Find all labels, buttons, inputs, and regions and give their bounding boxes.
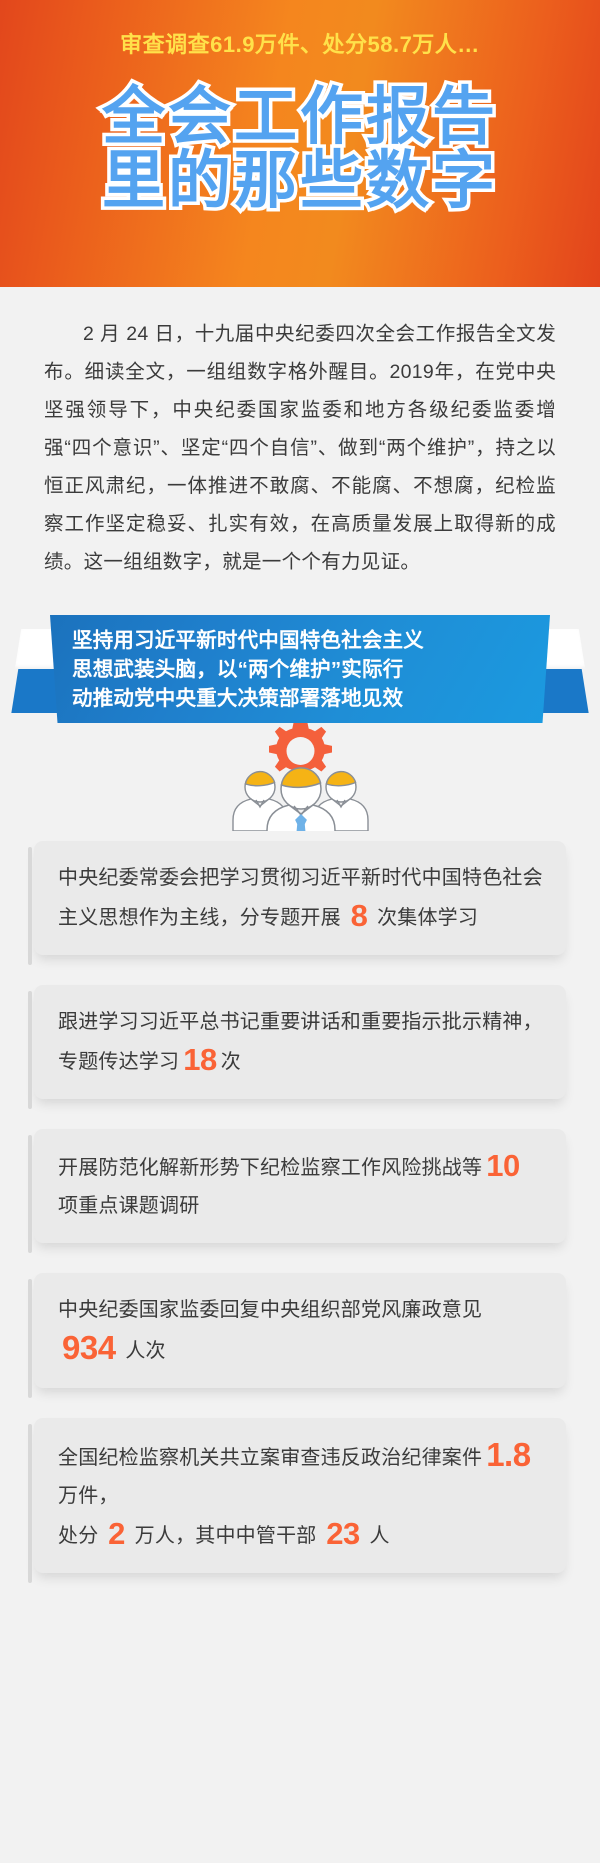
banner-line-3: 动推动党中央重大决策部署落地见效	[72, 684, 532, 713]
banner-line-1: 坚持用习近平新时代中国特色社会主义	[72, 626, 532, 655]
page-title-line-1: 全会工作报告	[0, 85, 600, 149]
stat-card[interactable]: 开展防范化解新形势下纪检监察工作风险挑战等10 项重点课题调研	[34, 1129, 566, 1243]
stat-text-run: 开展防范化解新形势下纪检监察工作风险挑战等	[58, 1157, 482, 1179]
stat-number: 10	[482, 1148, 523, 1183]
stat-text-run: 次	[221, 1051, 241, 1073]
stat-text-run: 处分	[58, 1525, 104, 1547]
stat-card[interactable]: 中央纪委常委会把学习贯彻习近平新时代中国特色社会主义思想作为主线，分专题开展 8…	[34, 841, 566, 955]
stat-text-run: 跟进学习习近平总书记重要讲话和重要指示批示精神，专题传达学习	[58, 1011, 543, 1073]
person-center-icon	[267, 768, 335, 831]
page-title-line-2: 里的那些数字	[0, 149, 600, 213]
intro-section: 2 月 24 日，十九届中央纪委四次全会工作报告全文发布。细读全文，一组组数字格…	[0, 287, 600, 581]
stat-card-text: 中央纪委国家监委回复中央组织部党风廉政意见 934 人次	[58, 1291, 544, 1370]
stat-number: 18	[179, 1042, 220, 1077]
gear-over-people-icon	[193, 713, 408, 831]
stat-text-run: 中央纪委国家监委回复中央组织部党风廉政意见	[58, 1299, 482, 1321]
stat-card[interactable]: 全国纪检监察机关共立案审查违反政治纪律案件1.8 万件，处分 2 万人，其中中管…	[34, 1418, 566, 1573]
stat-text-run: 人次	[120, 1340, 166, 1362]
stat-number: 2	[104, 1516, 129, 1551]
stat-card-text: 中央纪委常委会把学习贯彻习近平新时代中国特色社会主义思想作为主线，分专题开展 8…	[58, 859, 544, 937]
stat-card-text: 全国纪检监察机关共立案审查违反政治纪律案件1.8 万件，处分 2 万人，其中中管…	[58, 1436, 544, 1555]
intro-paragraph: 2 月 24 日，十九届中央纪委四次全会工作报告全文发布。细读全文，一组组数字格…	[44, 315, 556, 581]
stat-card[interactable]: 中央纪委国家监委回复中央组织部党风廉政意见 934 人次	[34, 1273, 566, 1388]
stat-card-text: 开展防范化解新形势下纪检监察工作风险挑战等10 项重点课题调研	[58, 1147, 544, 1225]
stat-text-run: 万件，	[58, 1485, 119, 1507]
page-title: 全会工作报告 里的那些数字	[0, 85, 600, 214]
stat-number: 1.8	[482, 1436, 534, 1473]
stat-card[interactable]: 跟进学习习近平总书记重要讲话和重要指示批示精神，专题传达学习18次	[34, 985, 566, 1099]
stats-card-list: 中央纪委常委会把学习贯彻习近平新时代中国特色社会主义思想作为主线，分专题开展 8…	[0, 833, 600, 1643]
section-banner: 坚持用习近平新时代中国特色社会主义 思想武装头脑，以“两个维护”实际行 动推动党…	[50, 615, 550, 723]
header-subtitle: 审查调查61.9万件、处分58.7万人…	[0, 27, 600, 59]
stat-number: 934	[58, 1329, 120, 1366]
stat-number: 8	[347, 898, 372, 933]
stat-card-text: 跟进学习习近平总书记重要讲话和重要指示批示精神，专题传达学习18次	[58, 1003, 544, 1081]
stat-text-run: 项重点课题调研	[58, 1195, 199, 1217]
banner-line-2: 思想武装头脑，以“两个维护”实际行	[72, 655, 532, 684]
illustration-area	[0, 713, 600, 833]
stat-text-run: 万人，其中中管干部	[129, 1525, 322, 1547]
stat-number: 23	[322, 1516, 363, 1551]
stat-text-run: 全国纪检监察机关共立案审查违反政治纪律案件	[58, 1447, 482, 1469]
stat-text-run: 次集体学习	[371, 907, 478, 929]
stat-text-run: 人	[364, 1525, 390, 1547]
header-banner: 审查调查61.9万件、处分58.7万人… 全会工作报告 里的那些数字	[0, 0, 600, 287]
section-banner-wrapper: 坚持用习近平新时代中国特色社会主义 思想武装头脑，以“两个维护”实际行 动推动党…	[0, 607, 600, 717]
